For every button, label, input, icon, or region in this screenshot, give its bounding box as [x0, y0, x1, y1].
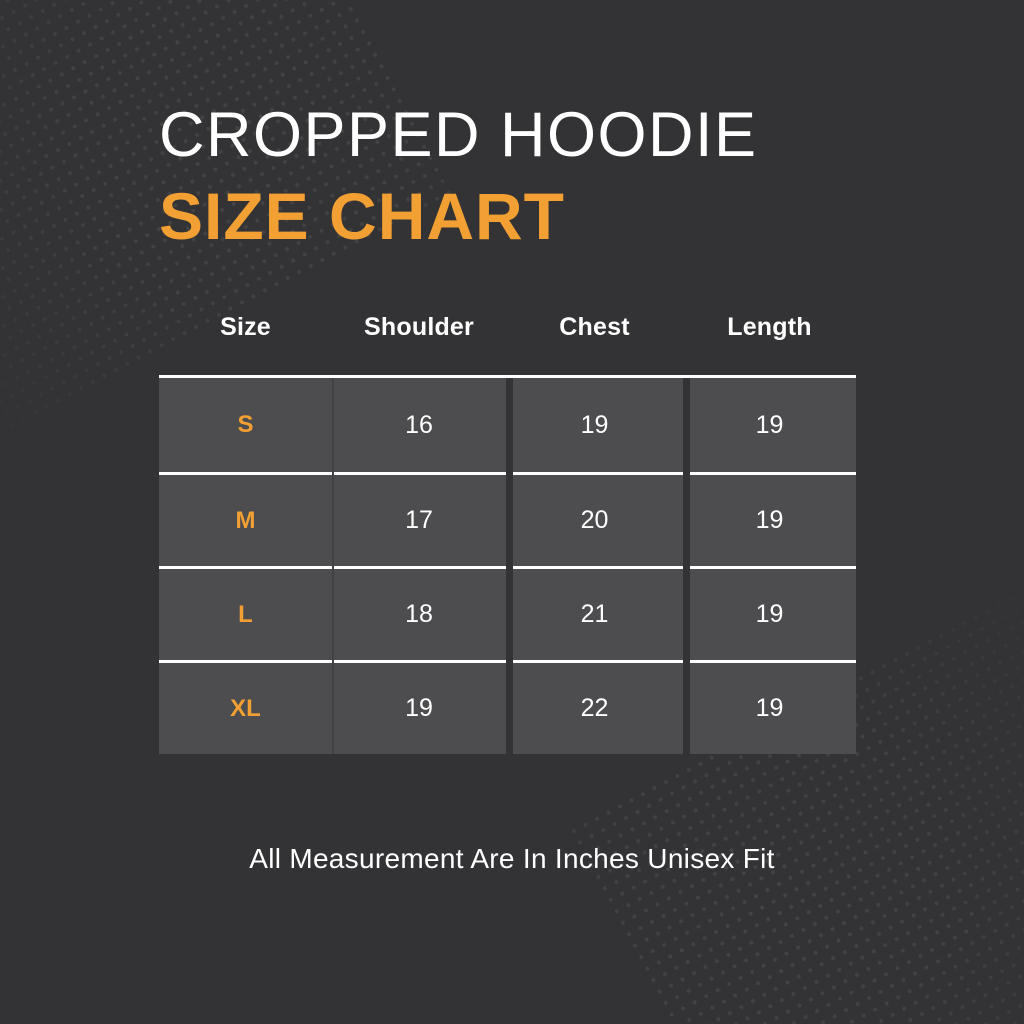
cell-chest: 19: [506, 378, 683, 472]
cell-size: M: [159, 475, 332, 566]
cell-shoulder: 18: [332, 569, 506, 660]
size-table: Size Shoulder Chest Length S 16 19 19 M …: [159, 296, 856, 754]
column-header-chest: Chest: [506, 313, 683, 342]
table-row: XL 19 22 19: [159, 660, 856, 754]
table-row: S 16 19 19: [159, 378, 856, 472]
table-body: S 16 19 19 M 17 20 19 L 18 21 19 XL 19 2…: [159, 375, 856, 754]
cell-size: S: [159, 378, 332, 472]
cell-length: 19: [683, 378, 856, 472]
table-row: M 17 20 19: [159, 472, 856, 566]
cell-size: L: [159, 569, 332, 660]
cell-shoulder: 17: [332, 475, 506, 566]
cell-length: 19: [683, 569, 856, 660]
column-header-size: Size: [159, 313, 332, 342]
size-chart-page: CROPPED HOODIE SIZE CHART Size Shoulder …: [0, 0, 1024, 1024]
measurement-note: All Measurement Are In Inches Unisex Fit: [0, 843, 1024, 875]
column-header-shoulder: Shoulder: [332, 313, 506, 342]
cell-length: 19: [683, 663, 856, 754]
cell-chest: 20: [506, 475, 683, 566]
cell-length: 19: [683, 475, 856, 566]
page-title-secondary: SIZE CHART: [159, 183, 565, 249]
table-header-row: Size Shoulder Chest Length: [159, 296, 856, 359]
cell-size: XL: [159, 663, 332, 754]
table-row: L 18 21 19: [159, 566, 856, 660]
cell-chest: 22: [506, 663, 683, 754]
page-title-primary: CROPPED HOODIE: [159, 104, 758, 167]
column-header-length: Length: [683, 313, 856, 342]
cell-shoulder: 19: [332, 663, 506, 754]
cell-chest: 21: [506, 569, 683, 660]
cell-shoulder: 16: [332, 378, 506, 472]
